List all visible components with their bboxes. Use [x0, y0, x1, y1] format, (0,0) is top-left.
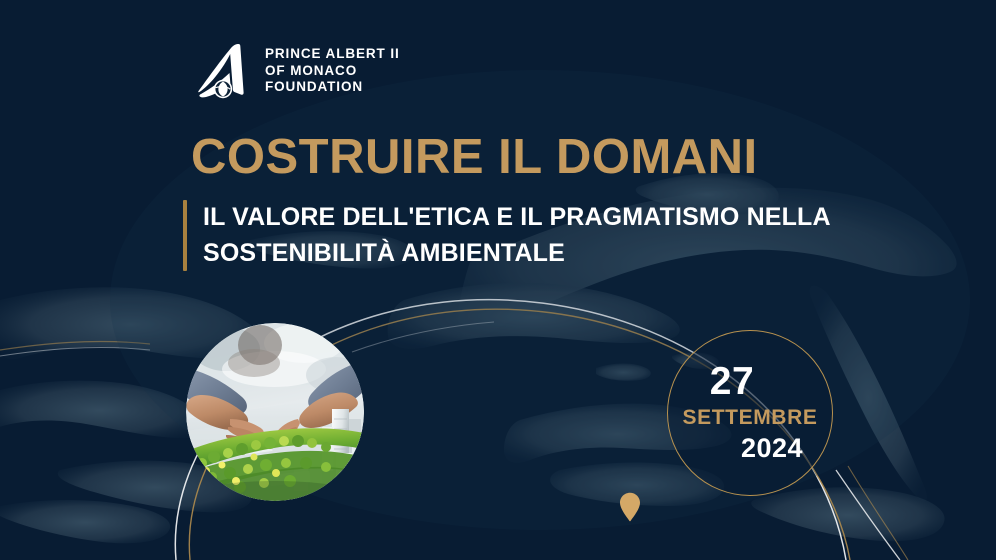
foundation-a-globe-icon: [198, 42, 254, 100]
location-pin: [619, 492, 641, 522]
event-day: 27: [710, 362, 754, 401]
page-title: COSTRUIRE IL DOMANI: [191, 133, 758, 182]
page-subtitle: IL VALORE DELL'ETICA E IL PRAGMATISMO NE…: [203, 200, 831, 271]
subtitle-accent-bar: [183, 200, 187, 271]
green-city-model-photo: [186, 323, 364, 501]
event-month: SETTEMBRE: [683, 404, 818, 432]
event-date-badge: 27 SETTEMBRE 2024: [667, 330, 833, 496]
foundation-logo: PRINCE ALBERT II OF MONACO FOUNDATION: [198, 42, 400, 100]
event-year: 2024: [741, 434, 803, 464]
background-world-map: [0, 0, 996, 560]
event-poster: PRINCE ALBERT II OF MONACO FOUNDATION CO…: [0, 0, 996, 560]
event-photo: [186, 323, 364, 501]
map-pin-icon: [619, 492, 641, 522]
foundation-logo-text: PRINCE ALBERT II OF MONACO FOUNDATION: [265, 46, 400, 96]
subtitle-block: IL VALORE DELL'ETICA E IL PRAGMATISMO NE…: [183, 200, 831, 271]
